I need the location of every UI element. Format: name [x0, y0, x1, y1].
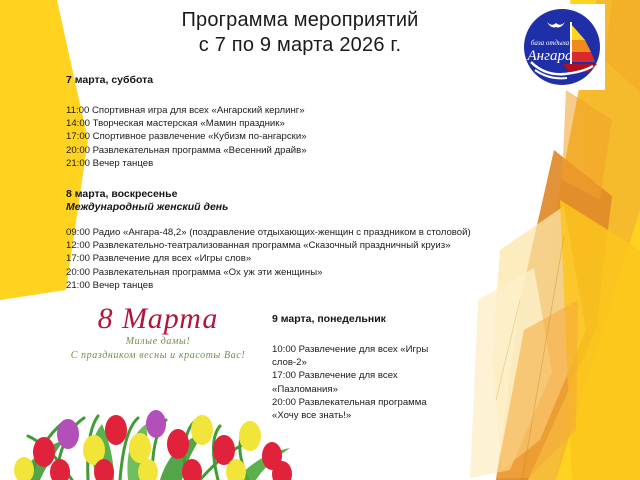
list-item: 10:00 Развлечение для всех «Игры слов-2»: [272, 343, 442, 369]
accent-line-2: [496, 300, 520, 400]
list-item: 20:00 Развлекательная программа «Ох уж э…: [66, 266, 546, 279]
list-item: 14:00 Творческая мастерская «Мамин празд…: [66, 117, 536, 130]
title-line-1: Программа мероприятий: [181, 9, 418, 31]
left-yellow-wedge-inner: [0, 0, 74, 296]
list-item: 17:00 Спортивное развлечение «Кубизм по-…: [66, 130, 536, 143]
right-amber-overlay: [560, 200, 640, 480]
page-title: Программа мероприятий с 7 по 9 марта 202…: [80, 8, 520, 58]
day-8-heading: 8 марта, воскресенье: [66, 188, 546, 201]
greeting-headline: 8 Марта: [58, 303, 258, 335]
day-7-march-block: 7 марта, суббота 11:00 Спортивная игра д…: [66, 74, 536, 170]
day-8-item-list: 09:00 Радио «Ангара-48,2» (поздравление …: [66, 226, 546, 292]
title-line-2: с 7 по 9 марта 2026 г.: [80, 33, 520, 58]
day-9-heading: 9 марта, понедельник: [272, 313, 442, 326]
list-item: 17:00 Развлечение для всех «Игры слов»: [66, 252, 546, 265]
day-8-march-block: 8 марта, воскресенье Международный женск…: [66, 188, 546, 292]
day-7-item-list: 11:00 Спортивная игра для всех «Ангарски…: [66, 104, 536, 170]
logo-text-big: Ангара: [527, 48, 573, 64]
tulip-bouquet-image: [0, 372, 300, 480]
greeting-line-2: С праздником весны и красоты Вас!: [58, 349, 258, 363]
day-8-subheading: Международный женский день: [66, 201, 546, 214]
right-light-overlay: [496, 300, 578, 478]
logo-text-small: база отдыха: [531, 39, 570, 47]
list-item: 11:00 Спортивная игра для всех «Ангарски…: [66, 104, 536, 117]
list-item: 21:00 Вечер танцев: [66, 157, 536, 170]
top-right-facet-b: [562, 90, 612, 200]
list-item: 09:00 Радио «Ангара-48,2» (поздравление …: [66, 226, 546, 239]
top-right-facet-a: [604, 0, 640, 92]
presentation-slide: база отдыха Ангара Программа мероприятий…: [0, 0, 640, 480]
day-7-heading: 7 марта, суббота: [66, 74, 536, 87]
list-item: 21:00 Вечер танцев: [66, 279, 546, 292]
list-item: 20:00 Развлекательная программа «Весенни…: [66, 144, 536, 157]
greeting-line-1: Милые дамы!: [58, 335, 258, 349]
logo-sail-red: [571, 52, 595, 62]
list-item: 12:00 Развлекательно-театрализованная пр…: [66, 239, 546, 252]
right-cream-shape: [470, 268, 552, 478]
